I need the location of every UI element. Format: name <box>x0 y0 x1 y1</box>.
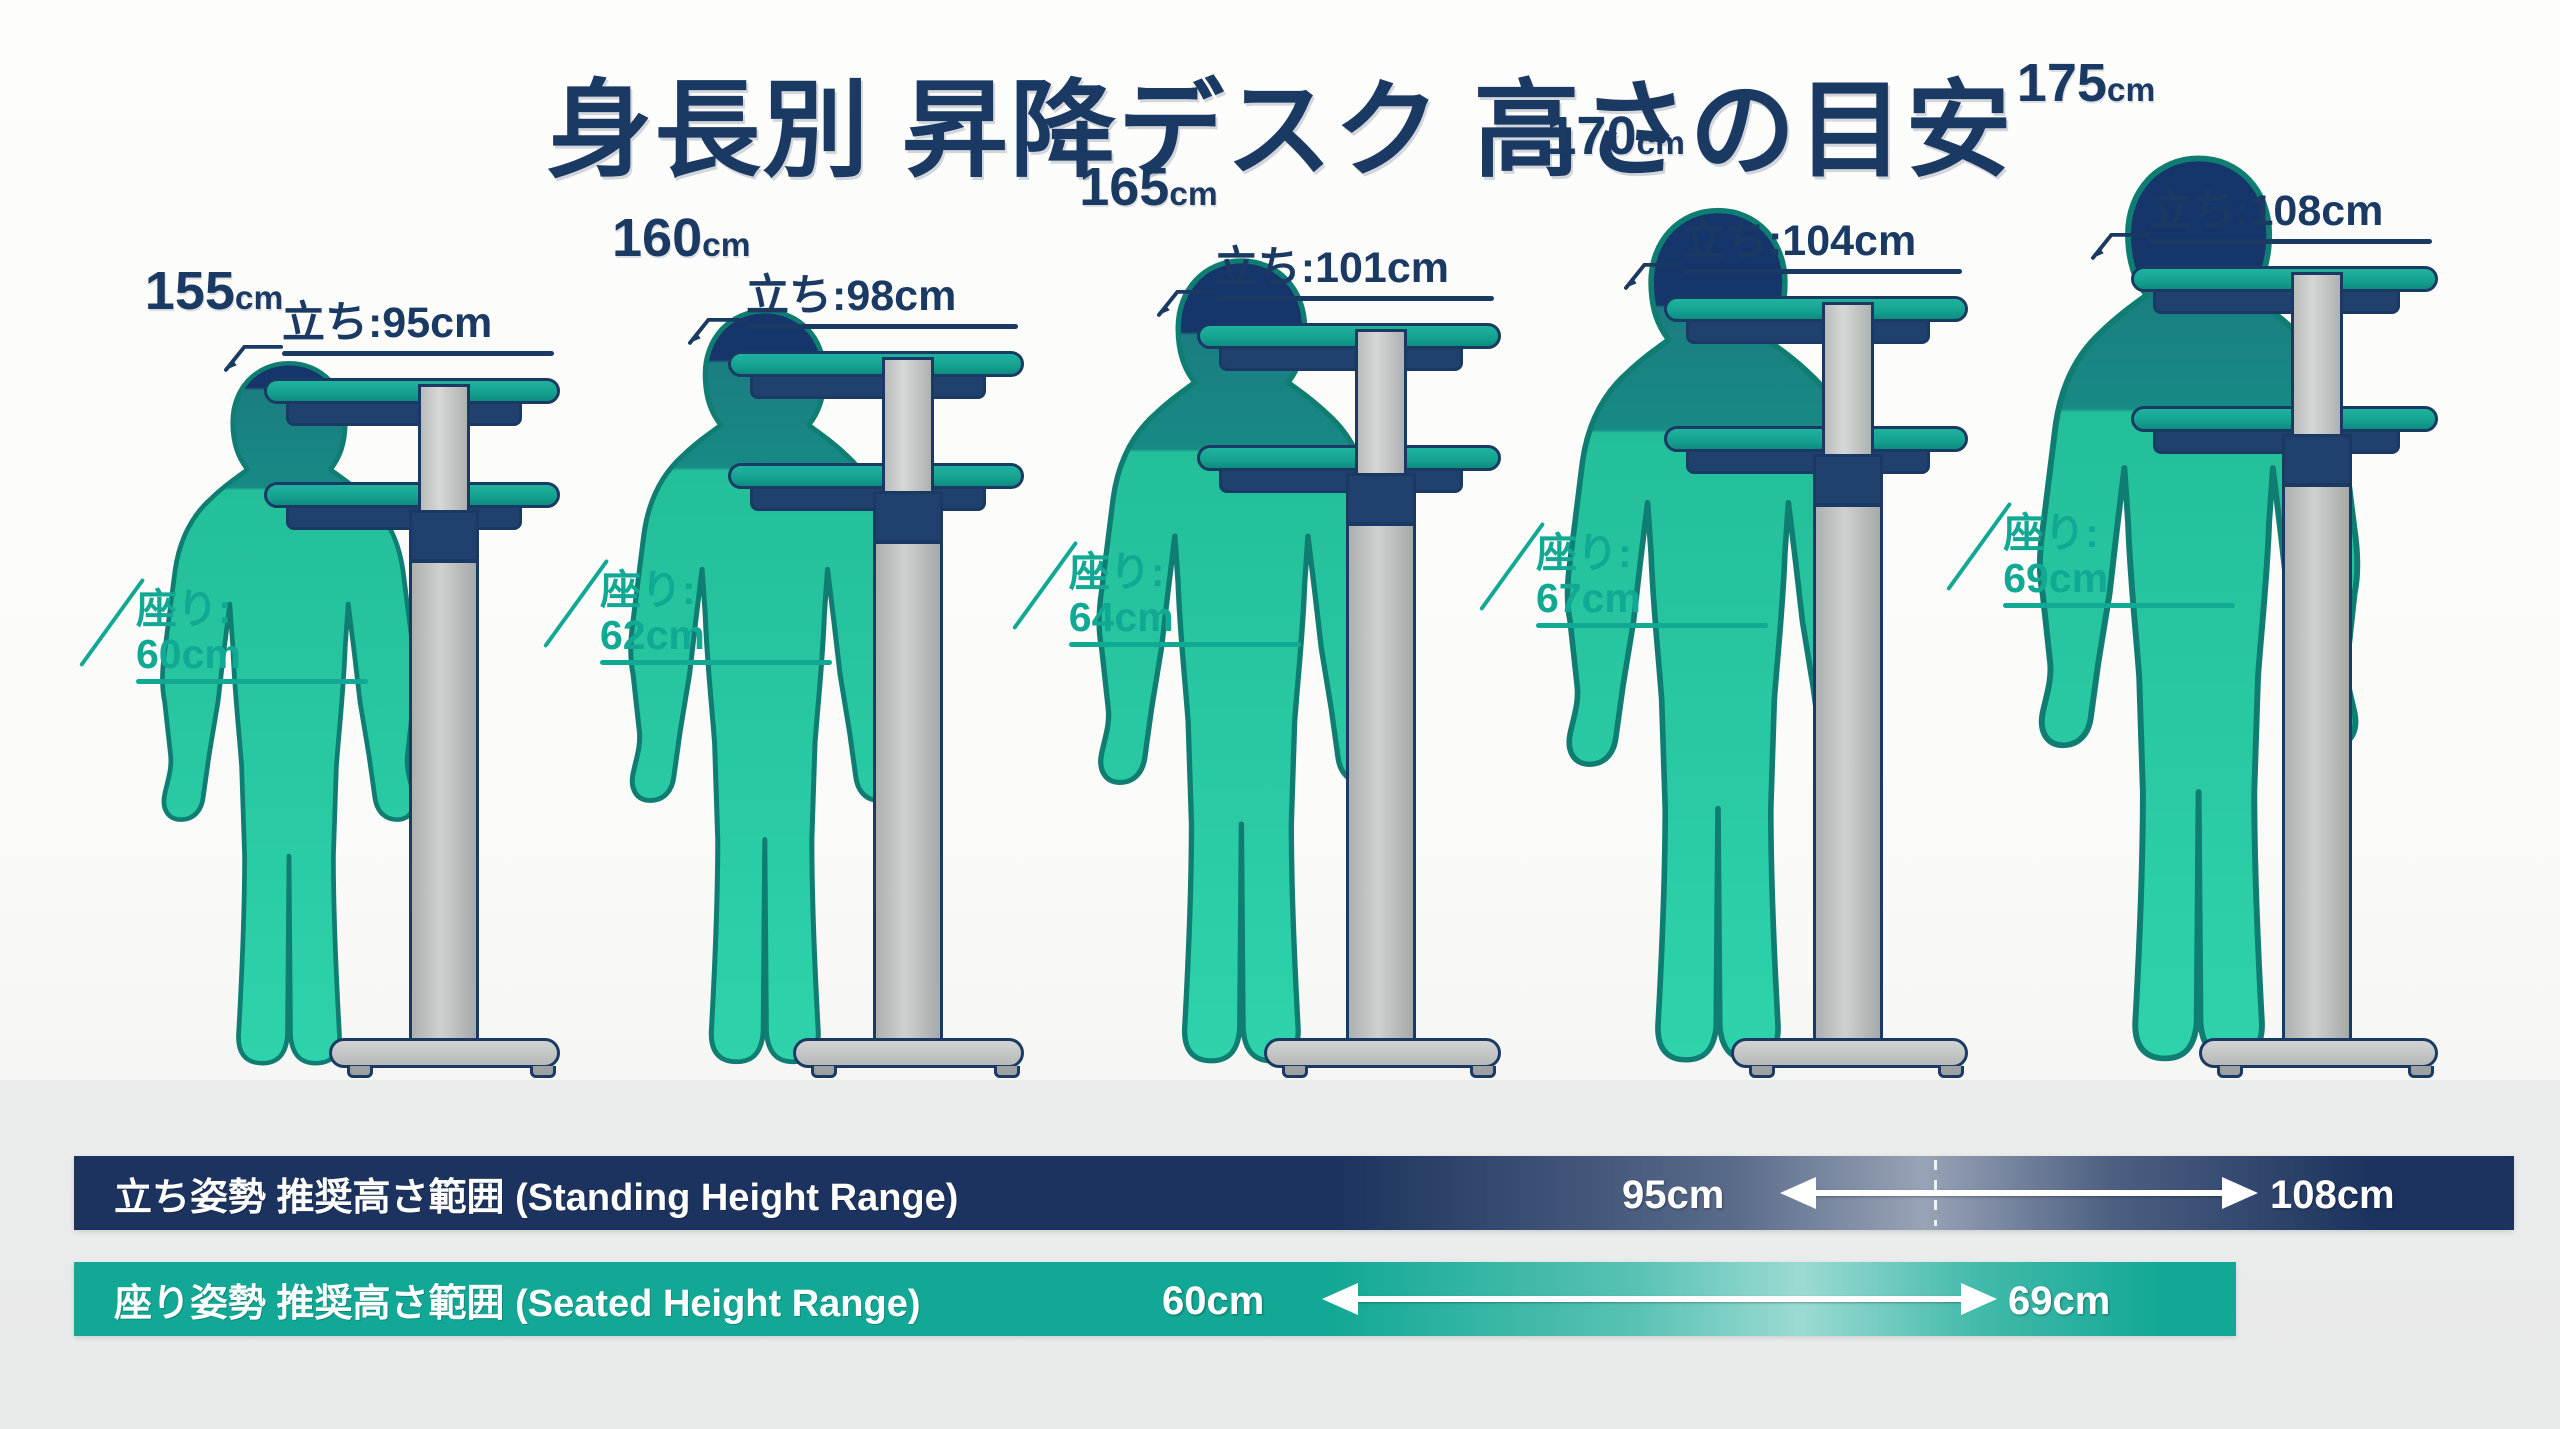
height-value: 170 <box>1546 106 1636 166</box>
standing-range-arrow-line <box>1814 1190 2234 1196</box>
desk-column-collar-165 <box>1346 473 1416 525</box>
seated-callout-line1: 座り: <box>1069 550 1174 594</box>
seated-callout-170: 座り:67cm <box>1536 531 1641 620</box>
desk-base-175 <box>2199 1038 2439 1068</box>
height-value: 160 <box>612 208 702 268</box>
legend-bars: 立ち姿勢 推奨高さ範囲 (Standing Height Range) 95cm… <box>0 1140 2560 1390</box>
seated-callout-line2: 64cm <box>1069 595 1174 639</box>
desk-apron-seated-175 <box>2153 430 2400 454</box>
desk-foot-right-155 <box>530 1066 556 1078</box>
person-body <box>162 363 415 1063</box>
desk-foot-right-160 <box>994 1066 1020 1078</box>
desk-foot-right-165 <box>1470 1066 1496 1078</box>
seated-range-bar[interactable]: 座り姿勢 推奨高さ範囲 (Seated Height Range) 60cm 6… <box>74 1262 2236 1336</box>
seated-callout-line2: 67cm <box>1536 576 1641 620</box>
desk-column-upper-175 <box>2291 272 2343 438</box>
standing-range-arrow-left <box>1780 1177 1816 1209</box>
standing-leader-arrow-170 <box>1612 248 1692 294</box>
seated-range-arrow-right <box>1961 1283 1997 1315</box>
desk-foot-left-160 <box>811 1066 837 1078</box>
desk-base-165 <box>1264 1038 1501 1068</box>
desk-base-170 <box>1731 1038 1968 1068</box>
desk-base-155 <box>329 1038 560 1068</box>
desk-top-standing-160 <box>728 351 1024 377</box>
desk-column-collar-155 <box>409 510 479 562</box>
desk-column-upper-170 <box>1822 302 1874 458</box>
desk-foot-right-170 <box>1938 1066 1964 1078</box>
height-label-155: 155cm <box>145 264 283 318</box>
standing-callout-165: 立ち:101cm <box>1215 245 1449 291</box>
standing-leader-arrow-175 <box>2079 218 2159 264</box>
height-unit: cm <box>1637 125 1685 162</box>
desk-column-collar-170 <box>1813 454 1883 506</box>
seated-leader-line-170 <box>1474 508 1544 628</box>
infographic-canvas: 身長別 昇降デスク 高さの目安 155cm立ち:95cm座り:60cm160cm… <box>0 0 2560 1429</box>
desk-column-collar-160 <box>873 491 943 543</box>
desk-column-lower-165 <box>1346 523 1416 1052</box>
seated-callout-underline-165 <box>1069 642 1301 647</box>
desk-top-seated-165 <box>1197 445 1501 471</box>
seated-range-arrow-left <box>1322 1283 1358 1315</box>
person-body <box>631 311 899 1062</box>
standing-leader-arrow-155 <box>212 330 292 376</box>
height-label-160: 160cm <box>612 211 750 265</box>
desk-foot-left-165 <box>1282 1066 1308 1078</box>
standing-range-bar[interactable]: 立ち姿勢 推奨高さ範囲 (Standing Height Range) 95cm… <box>74 1156 2514 1230</box>
desk-column-lower-155 <box>409 560 479 1052</box>
desk-apron-standing-175 <box>2153 290 2400 314</box>
seated-leader-line-175 <box>1941 488 2011 608</box>
desk-top-seated-170 <box>1664 426 1968 452</box>
height-unit: cm <box>235 280 283 317</box>
seated-callout-175: 座り:69cm <box>2003 511 2108 600</box>
desk-apron-standing-165 <box>1219 347 1463 371</box>
standing-range-label: 立ち姿勢 推奨高さ範囲 (Standing Height Range) <box>114 1166 958 1221</box>
height-label-175: 175cm <box>2017 56 2155 110</box>
desk-top-seated-155 <box>264 482 560 508</box>
desk-foot-left-175 <box>2217 1066 2243 1078</box>
standing-callout-175: 立ち:108cm <box>2149 188 2383 234</box>
seated-callout-160: 座り:62cm <box>600 568 705 657</box>
desk-foot-right-175 <box>2408 1066 2434 1078</box>
standing-callout-underline-170 <box>1682 269 1962 274</box>
standing-range-min: 95cm <box>1622 1173 1724 1218</box>
desk-apron-seated-155 <box>286 506 522 530</box>
seated-callout-line1: 座り: <box>2003 511 2108 555</box>
height-value: 175 <box>2017 53 2107 113</box>
standing-leader-arrow-160 <box>676 303 756 349</box>
standing-callout-underline-155 <box>282 351 554 356</box>
desk-top-seated-160 <box>728 463 1024 489</box>
seated-leader-line-160 <box>538 545 608 665</box>
standing-range-arrow-right <box>2222 1177 2258 1209</box>
desk-top-seated-175 <box>2131 406 2438 432</box>
height-unit: cm <box>1169 176 1217 213</box>
seated-range-min: 60cm <box>1162 1279 1264 1324</box>
figure-group-175: 175cm立ち:108cm座り:69cm <box>2013 0 2560 1080</box>
desk-column-lower-175 <box>2282 484 2352 1052</box>
desk-top-standing-155 <box>264 378 560 404</box>
standing-leader-arrow-165 <box>1145 275 1225 321</box>
desk-column-upper-160 <box>882 357 934 495</box>
seated-callout-line1: 座り: <box>600 568 705 612</box>
standing-callout-underline-165 <box>1215 296 1495 301</box>
desk-apron-standing-170 <box>1686 320 1930 344</box>
height-value: 165 <box>1079 157 1169 217</box>
standing-callout-underline-160 <box>746 324 1018 329</box>
desk-column-upper-165 <box>1355 329 1407 477</box>
standing-callout-underline-175 <box>2149 239 2432 244</box>
seated-callout-underline-170 <box>1536 623 1768 628</box>
desk-column-upper-155 <box>418 384 470 514</box>
seated-range-label: 座り姿勢 推奨高さ範囲 (Seated Height Range) <box>114 1272 921 1327</box>
seated-leader-line-155 <box>74 564 144 684</box>
seated-callout-line2: 60cm <box>136 632 241 676</box>
standing-callout-155: 立ち:95cm <box>282 300 492 346</box>
seated-callout-line2: 69cm <box>2003 556 2108 600</box>
height-value: 155 <box>145 261 235 321</box>
desk-foot-left-170 <box>1749 1066 1775 1078</box>
seated-leader-line-165 <box>1007 527 1077 647</box>
desk-column-collar-175 <box>2282 434 2352 486</box>
desk-column-lower-160 <box>873 541 943 1052</box>
person-silhouette-155 <box>141 352 437 1080</box>
desk-apron-seated-170 <box>1686 450 1930 474</box>
desk-foot-left-155 <box>347 1066 373 1078</box>
desk-top-standing-175 <box>2131 266 2438 292</box>
seated-range-arrow-line <box>1356 1296 1973 1302</box>
desk-base-160 <box>793 1038 1024 1068</box>
desk-column-lower-170 <box>1813 504 1883 1052</box>
seated-callout-155: 座り:60cm <box>136 587 241 676</box>
seated-callout-underline-155 <box>136 679 368 684</box>
standing-callout-160: 立ち:98cm <box>746 273 956 319</box>
standing-callout-170: 立ち:104cm <box>1682 218 1916 264</box>
desk-apron-standing-155 <box>286 402 522 426</box>
height-unit: cm <box>2107 72 2155 109</box>
desk-apron-standing-160 <box>750 375 986 399</box>
person-body <box>1099 261 1384 1061</box>
seated-range-max: 69cm <box>2008 1279 2110 1324</box>
seated-callout-line2: 62cm <box>600 613 705 657</box>
height-label-165: 165cm <box>1079 160 1217 214</box>
seated-callout-line1: 座り: <box>1536 531 1641 575</box>
seated-callout-165: 座り:64cm <box>1069 550 1174 639</box>
desk-top-standing-170 <box>1664 296 1968 322</box>
seated-callout-line1: 座り: <box>136 587 241 631</box>
desk-apron-seated-160 <box>750 487 986 511</box>
seated-callout-underline-175 <box>2003 603 2235 608</box>
height-unit: cm <box>702 227 750 264</box>
desk-top-standing-165 <box>1197 323 1501 349</box>
height-label-170: 170cm <box>1546 109 1684 163</box>
standing-range-max: 108cm <box>2270 1173 2395 1218</box>
desk-apron-seated-165 <box>1219 469 1463 493</box>
seated-callout-underline-160 <box>600 660 832 665</box>
